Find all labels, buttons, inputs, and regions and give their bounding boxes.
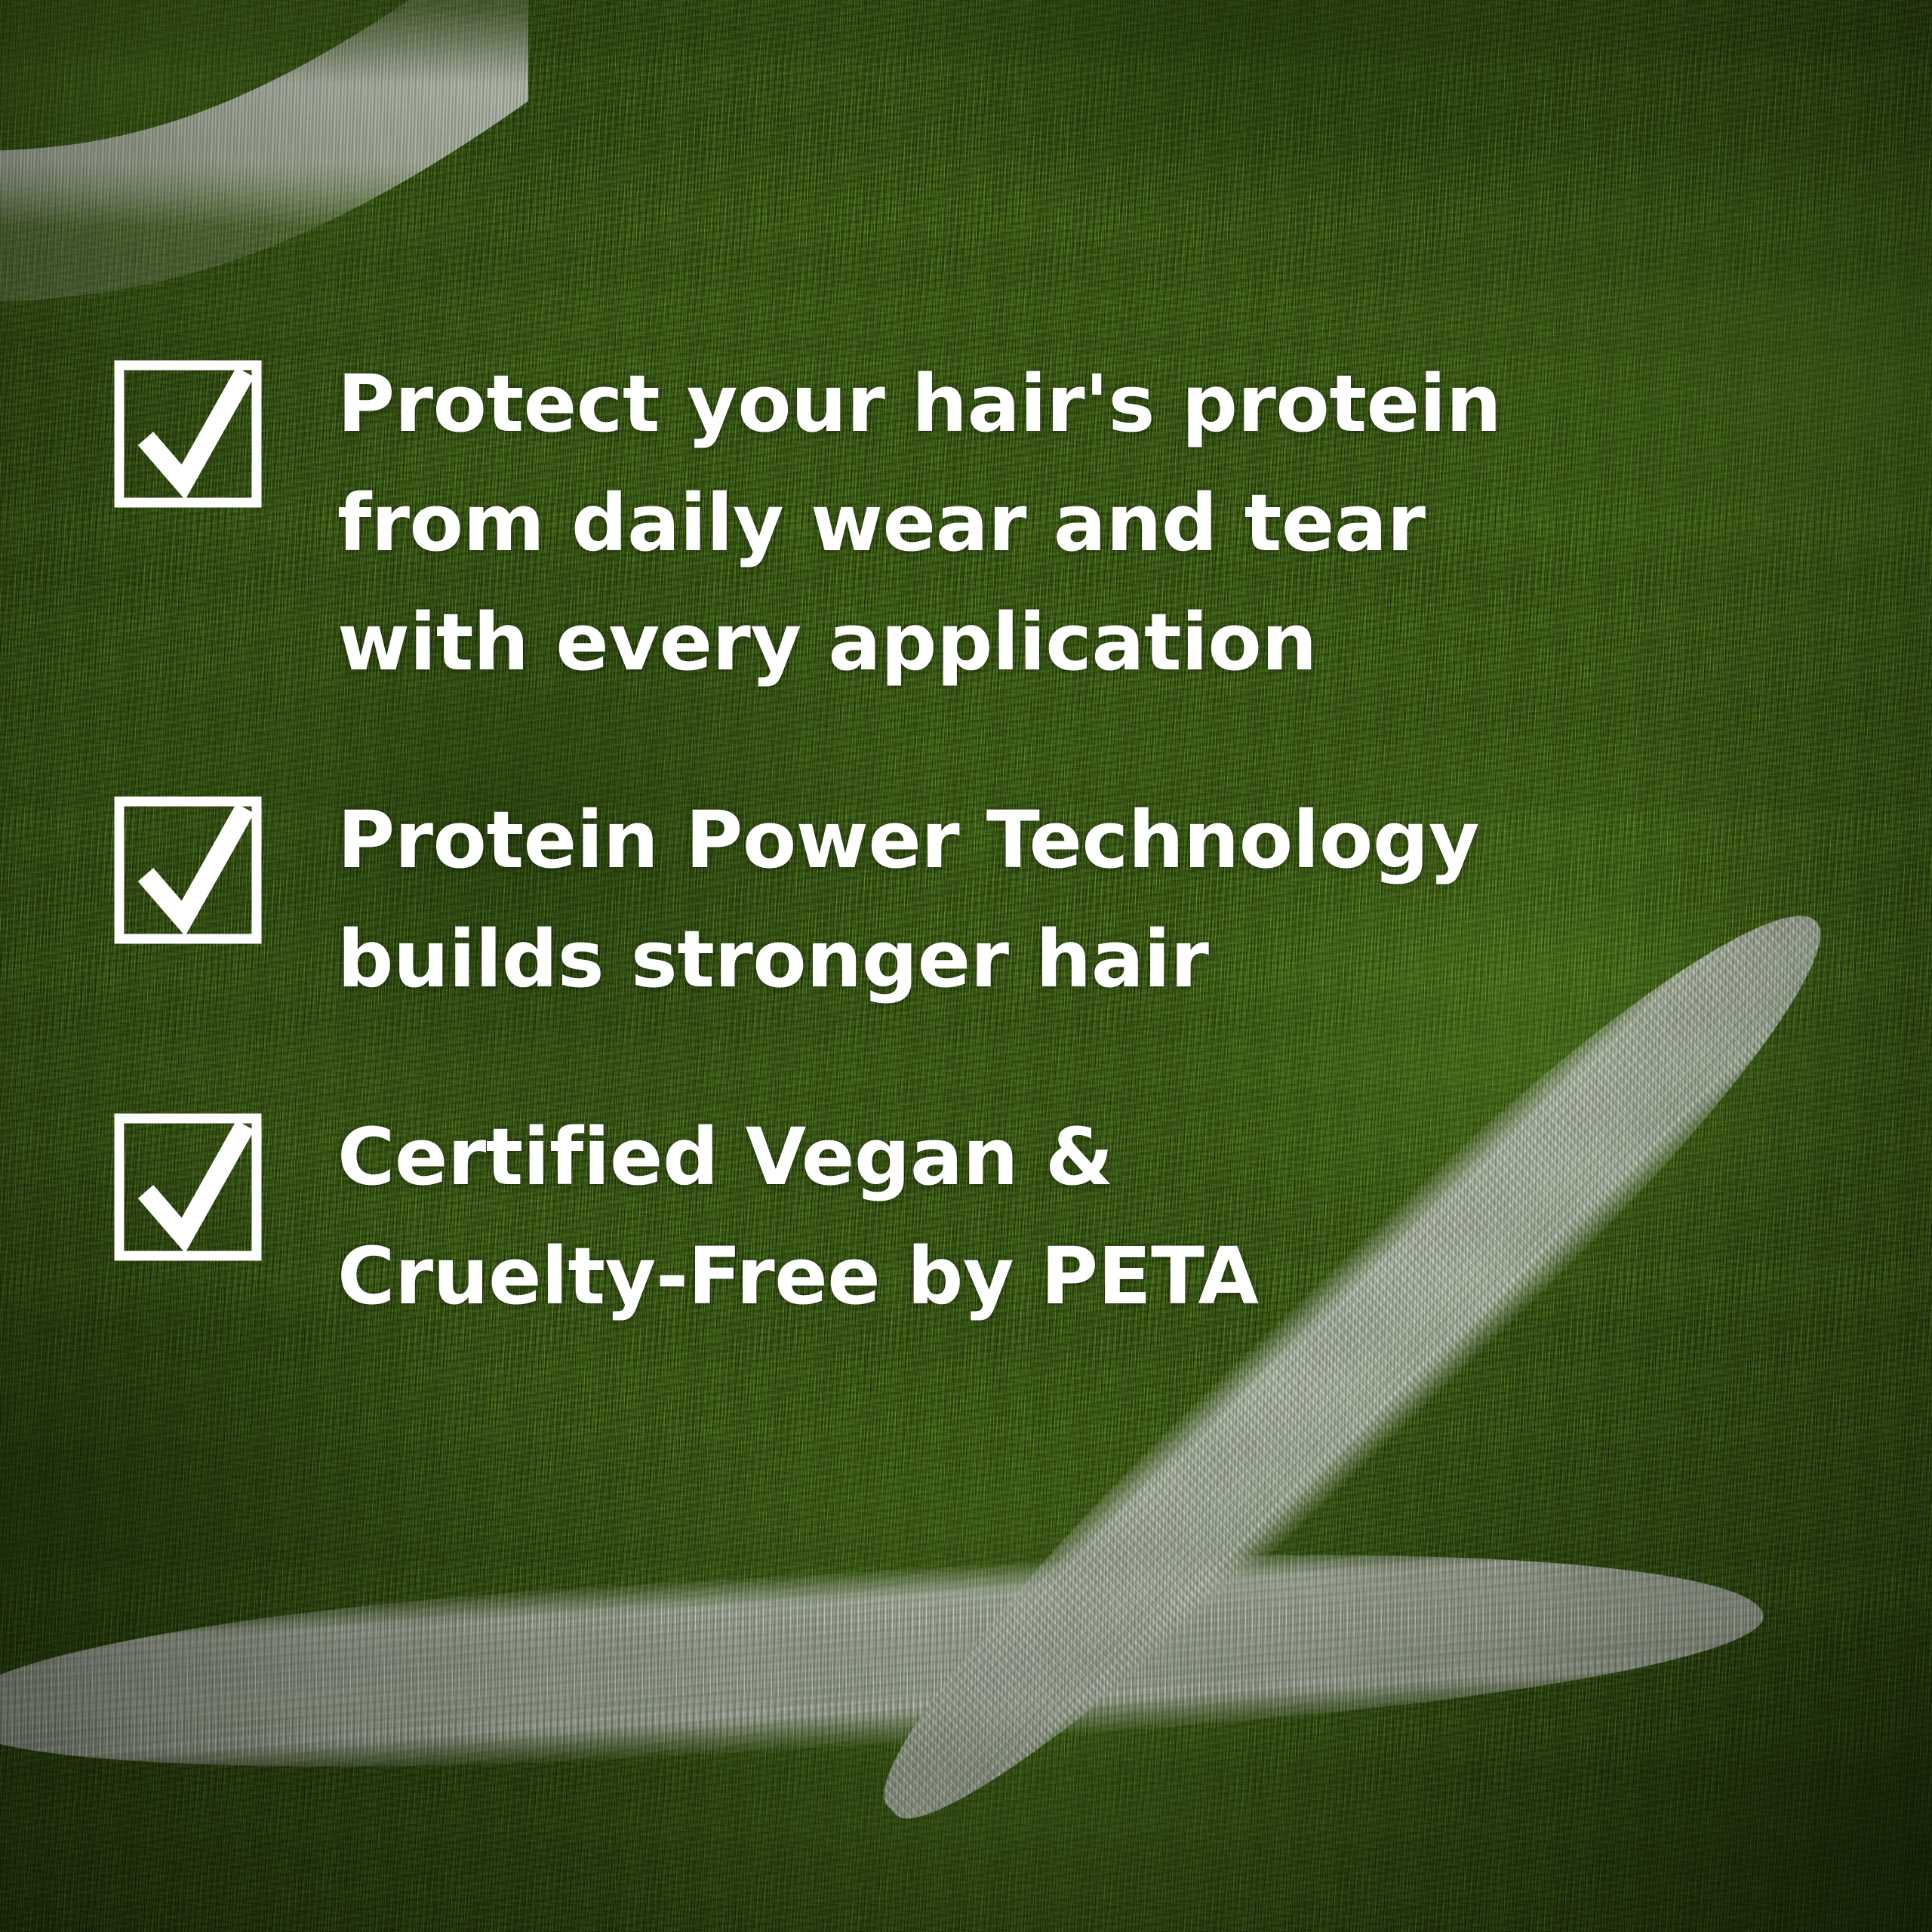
promo-image-canvas: Protect your hair's protein from daily w… [0,0,1932,1932]
checkbox-checked-icon [118,365,256,502]
benefits-list: Protect your hair's protein from daily w… [118,355,1839,1337]
benefit-text: Certified Vegan & Cruelty-Free by PETA [337,1097,1259,1336]
checkbox-checked-icon [118,801,256,938]
benefit-text: Protect your hair's protein from daily w… [337,344,1501,702]
benefit-item: Certified Vegan & Cruelty-Free by PETA [118,1108,1839,1336]
benefit-item: Protein Power Technology builds stronger… [118,791,1839,1019]
benefit-item: Protect your hair's protein from daily w… [118,355,1839,702]
benefit-text: Protein Power Technology builds stronger… [337,780,1479,1019]
checkbox-checked-icon [118,1118,256,1255]
